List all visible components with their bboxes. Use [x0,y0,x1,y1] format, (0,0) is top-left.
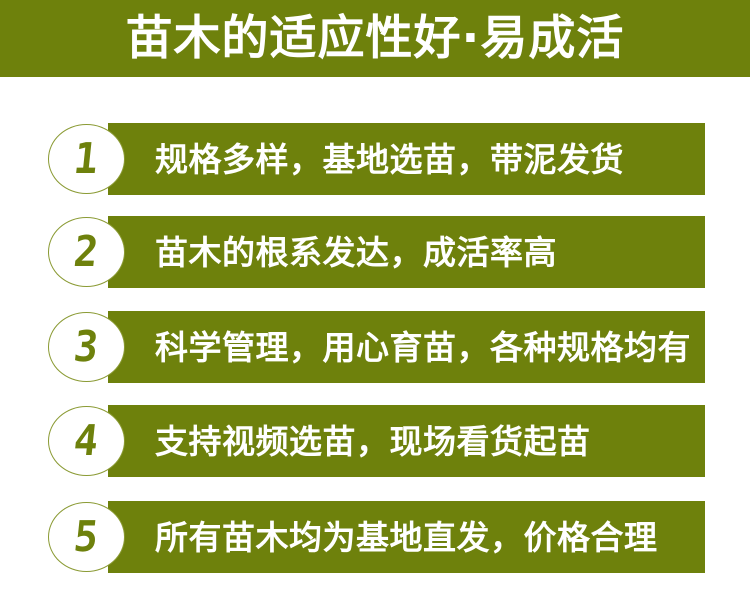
feature-text-5: 所有苗木均为基地直发，价格合理 [155,501,658,573]
page-title: 苗木的适应性好·易成活 [0,0,750,77]
header-band: 苗木的适应性好·易成活 [0,0,750,77]
feature-row-4: 支持视频选苗，现场看货起苗 4 [0,359,750,454]
feature-badge-5: 5 [48,502,125,572]
feature-row-1: 规格多样，基地选苗，带泥发货 1 [0,77,750,172]
feature-row-3: 科学管理，用心育苗，各种规格均有 3 [0,265,750,360]
feature-row-2: 苗木的根系发达，成活率高 2 [0,170,750,265]
badge-number-5: 5 [72,516,101,558]
feature-row-5: 所有苗木均为基地直发，价格合理 5 [0,455,750,550]
feature-list: 规格多样，基地选苗，带泥发货 1 苗木的根系发达，成活率高 2 科学管理，用心育… [0,77,750,611]
promo-banner: 苗木的适应性好·易成活 规格多样，基地选苗，带泥发货 1 苗木的根系发达，成活率… [0,0,750,611]
